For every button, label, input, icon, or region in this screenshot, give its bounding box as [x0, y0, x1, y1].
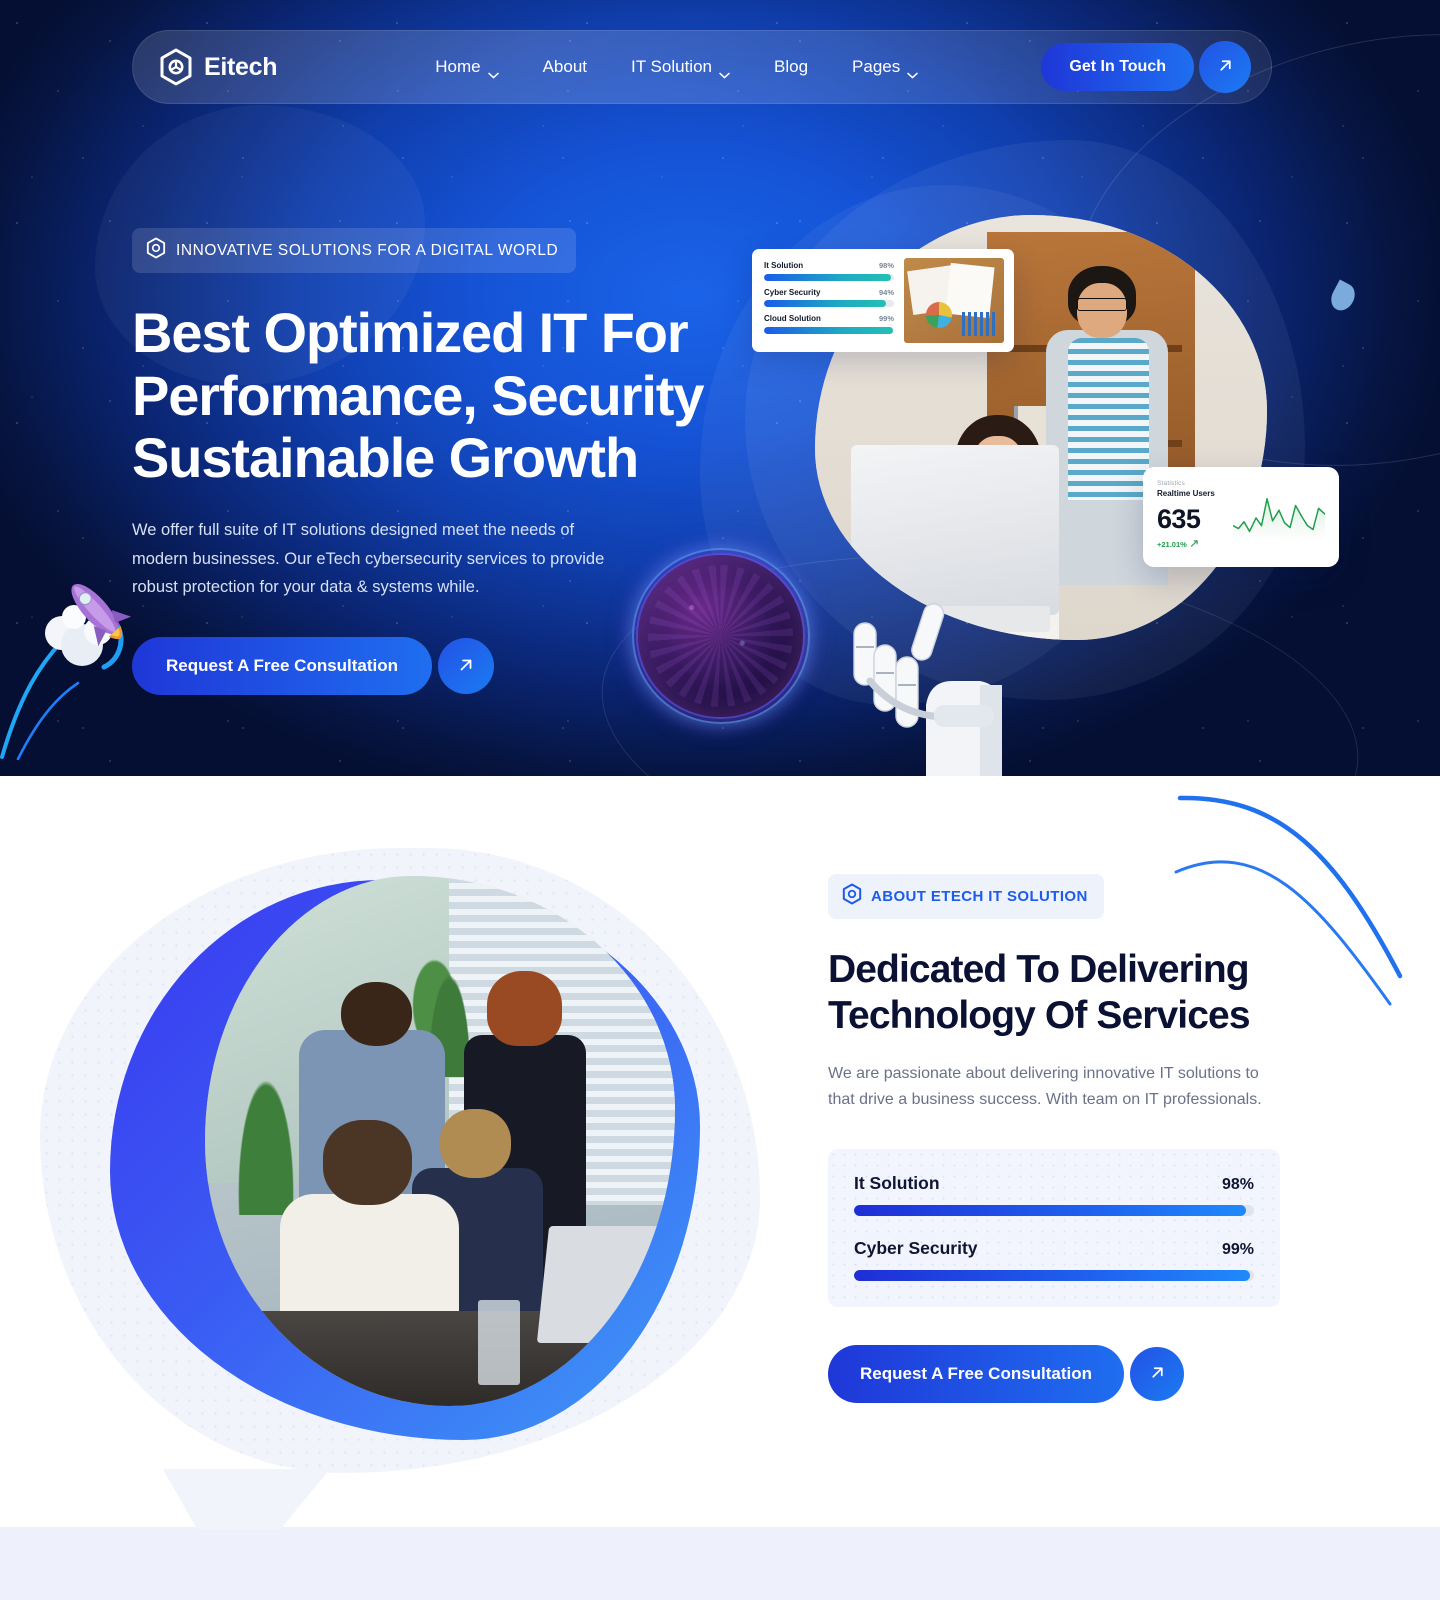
hero-section: Eitech Home About IT Solution	[0, 0, 1440, 776]
hero-badge-text: INNOVATIVE SOLUTIONS FOR A DIGITAL WORLD	[176, 242, 558, 260]
next-section-strip	[0, 1527, 1440, 1600]
skill-label: Cloud Solution	[764, 314, 821, 323]
skill-value: 98%	[1222, 1176, 1254, 1194]
stat-delta: +21.01%	[1157, 539, 1233, 550]
hero-badge: INNOVATIVE SOLUTIONS FOR A DIGITAL WORLD	[132, 228, 576, 273]
skill-label: It Solution	[764, 261, 803, 270]
about-badge-text: ABOUT ETECH IT SOLUTION	[871, 888, 1088, 905]
skill-value: 99%	[1222, 1241, 1254, 1259]
nav-item-label: Pages	[852, 57, 900, 77]
chevron-down-icon	[907, 64, 918, 71]
globe-icon	[638, 555, 803, 717]
stat-title: Realtime Users	[1157, 489, 1233, 498]
nav-links: Home About IT Solution Blog	[413, 57, 940, 77]
hero-title: Best Optimized IT For Performance, Secur…	[132, 302, 712, 490]
about-skill-row: It Solution 98%	[854, 1173, 1254, 1216]
skill-value: 94%	[879, 288, 894, 297]
nav-item-pages[interactable]: Pages	[830, 57, 940, 77]
skill-progress-track	[854, 1270, 1254, 1281]
realtime-users-stat-card: Statistics Realtime Users 635 +21.01%	[1143, 467, 1339, 567]
hero-skill-row: It Solution 98%	[764, 261, 894, 281]
about-section: ABOUT ETECH IT SOLUTION Dedicated To Del…	[0, 776, 1440, 1527]
chevron-down-icon	[719, 64, 730, 71]
hexagon-logo-icon	[159, 48, 193, 86]
skill-label: It Solution	[854, 1173, 940, 1194]
arrow-up-right-icon	[1216, 56, 1235, 78]
skill-label: Cyber Security	[854, 1238, 978, 1259]
brand-logo[interactable]: Eitech	[159, 48, 277, 86]
skill-value: 99%	[879, 314, 894, 323]
get-in-touch-arrow-button[interactable]	[1199, 41, 1251, 93]
about-team-photo	[205, 876, 675, 1406]
stat-delta-value: +21.01%	[1157, 540, 1187, 549]
about-skill-row: Cyber Security 99%	[854, 1238, 1254, 1281]
landing-page: Eitech Home About IT Solution	[0, 0, 1440, 1600]
robot-hand-icon	[830, 585, 1030, 776]
nav-item-label: IT Solution	[631, 57, 712, 77]
hero-skill-card: It Solution 98% Cyber Security 94% Cloud…	[752, 249, 1014, 352]
about-subtitle: We are passionate about delivering innov…	[828, 1061, 1268, 1113]
about-badge: ABOUT ETECH IT SOLUTION	[828, 874, 1104, 919]
nav-item-label: About	[543, 57, 587, 77]
hero-skill-row: Cyber Security 94%	[764, 288, 894, 308]
request-consultation-button[interactable]: Request A Free Consultation	[132, 637, 432, 695]
request-consultation-arrow-button[interactable]	[438, 638, 494, 694]
stat-number: 635	[1157, 506, 1233, 533]
main-navbar: Eitech Home About IT Solution	[132, 30, 1272, 104]
rocket-icon	[0, 545, 170, 760]
skill-progress-track	[764, 327, 894, 334]
hero-skill-card-photo	[904, 258, 1004, 343]
trend-up-icon	[1190, 539, 1199, 550]
chevron-down-icon	[488, 64, 499, 71]
hexagon-logo-icon	[146, 237, 166, 264]
nav-item-label: Home	[435, 57, 480, 77]
hero-skill-rows: It Solution 98% Cyber Security 94% Cloud…	[752, 249, 904, 352]
brand-name: Eitech	[204, 53, 277, 82]
navbar-cta-group: Get In Touch	[1041, 41, 1251, 93]
nav-item-blog[interactable]: Blog	[752, 57, 830, 77]
arrow-up-right-icon	[456, 655, 476, 678]
arrow-up-right-icon	[1148, 1363, 1167, 1385]
nav-item-home[interactable]: Home	[413, 57, 520, 77]
skill-value: 98%	[879, 261, 894, 270]
nav-item-about[interactable]: About	[521, 57, 609, 77]
skill-progress-track	[764, 300, 894, 307]
about-skills-panel: It Solution 98% Cyber Security 99%	[828, 1149, 1280, 1307]
get-in-touch-button[interactable]: Get In Touch	[1041, 43, 1194, 91]
about-request-consultation-button[interactable]: Request A Free Consultation	[828, 1345, 1124, 1403]
stat-caption: Statistics	[1157, 480, 1233, 487]
hero-subtitle: We offer full suite of IT solutions desi…	[132, 516, 607, 601]
about-request-consultation-arrow-button[interactable]	[1130, 1347, 1184, 1401]
nav-item-label: Blog	[774, 57, 808, 77]
realtime-users-sparkline	[1233, 480, 1325, 554]
hexagon-logo-icon	[842, 883, 862, 910]
about-title: Dedicated To Delivering Technology Of Se…	[828, 947, 1298, 1039]
hero-skill-row: Cloud Solution 99%	[764, 314, 894, 334]
nav-item-it-solution[interactable]: IT Solution	[609, 57, 752, 77]
about-cta-group: Request A Free Consultation	[828, 1345, 1298, 1403]
skill-progress-track	[854, 1205, 1254, 1216]
about-copy: ABOUT ETECH IT SOLUTION Dedicated To Del…	[828, 874, 1298, 1403]
skill-label: Cyber Security	[764, 288, 820, 297]
skill-progress-track	[764, 274, 894, 281]
